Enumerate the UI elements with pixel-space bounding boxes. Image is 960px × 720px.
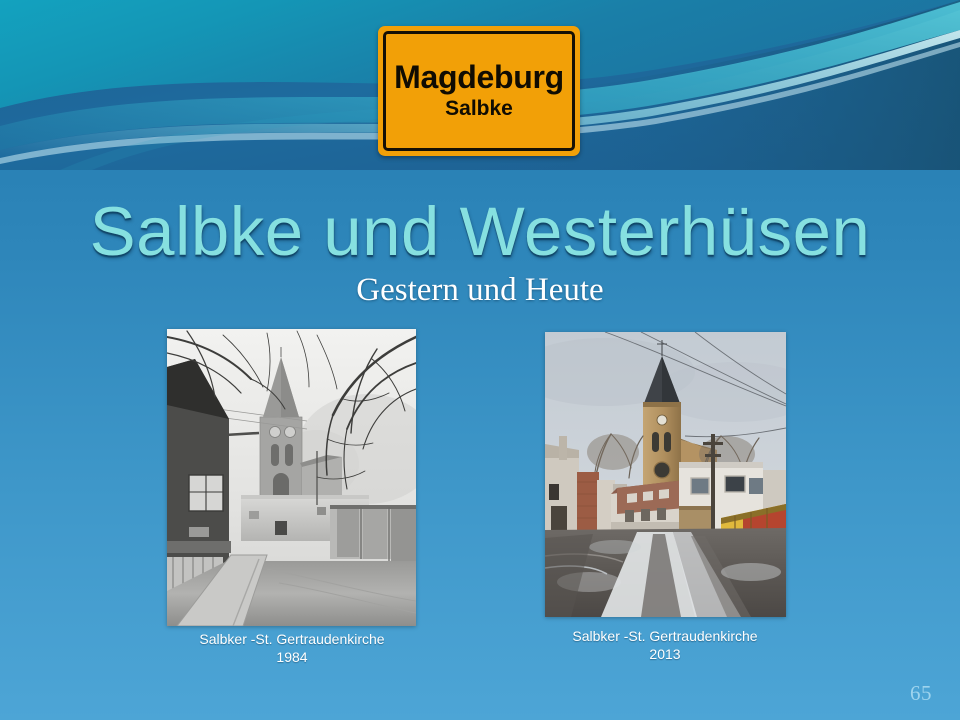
photo-1-caption-line-1: Salbker -St. Gertraudenkirche (130, 630, 454, 648)
city-limit-sign: Magdeburg Salbke (378, 26, 580, 156)
presentation-slide: Magdeburg Salbke Salbke und Westerhüsen … (0, 0, 960, 720)
photo-1-caption-line-2: 1984 (130, 648, 454, 666)
salbker-st-gertraudenkirche-2013-photo (545, 332, 786, 617)
photo-2-caption: Salbker -St. Gertraudenkirche 2013 (503, 627, 827, 664)
salbker-st-gertraudenkirche-1984-photo (167, 329, 416, 626)
slide-page-number: 65 (910, 681, 932, 706)
slide-subtitle: Gestern und Heute (0, 272, 960, 309)
city-district-label: Salbke (445, 96, 513, 121)
slide-title: Salbke und Westerhüsen (0, 192, 960, 271)
photo-2-caption-line-1: Salbker -St. Gertraudenkirche (503, 627, 827, 645)
photo-1-caption: Salbker -St. Gertraudenkirche 1984 (130, 630, 454, 667)
photo-2-caption-line-2: 2013 (503, 645, 827, 663)
city-name-label: Magdeburg (394, 61, 564, 95)
city-limit-sign-frame: Magdeburg Salbke (383, 31, 575, 151)
